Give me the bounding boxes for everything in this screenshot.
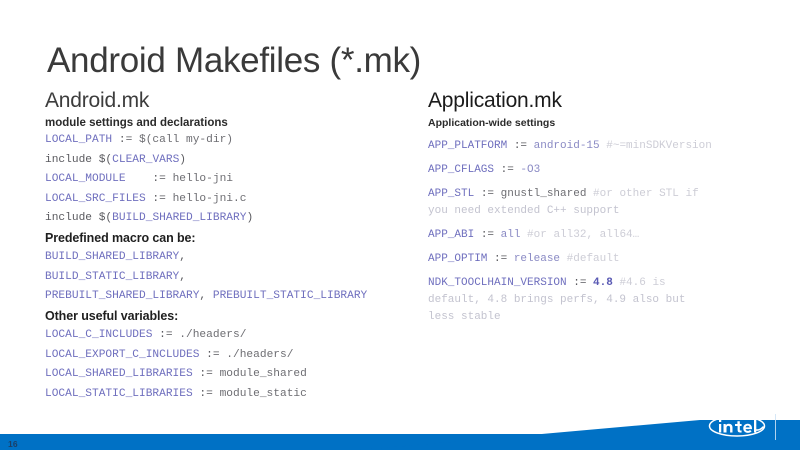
code-token: APP_ABI [428,229,474,241]
code-token: hello-jni.c [173,193,247,205]
code-token: := [152,329,179,341]
application-mk-subheading: Application-wide settings [428,116,800,131]
application-mk-heading: Application.mk [428,88,800,114]
code-line: PREBUILT_SHARED_LIBRARY, PREBUILT_STATIC… [45,287,430,307]
code-token: PREBUILT_SHARED_LIBRARY [45,290,199,302]
code-token: you need extended C++ support [428,205,619,217]
code-token: $( [99,212,112,224]
code-token: LOCAL_PATH [45,134,112,146]
code-token: := [567,277,593,289]
code-spacer [428,131,800,138]
code-token: gnustl_shared [501,188,587,200]
code-line: LOCAL_SRC_FILES := hello-jni.c [45,190,430,210]
code-spacer [428,179,800,186]
code-token: := [146,193,173,205]
code-token: #or other STL if [586,188,698,200]
code-token: := [112,134,139,146]
code-token: include [45,154,99,166]
code-token: LOCAL_C_INCLUDES [45,329,152,341]
page-number: 16 [8,439,18,449]
code-line: LOCAL_STATIC_LIBRARIES := module_static [45,385,430,405]
code-token: APP_OPTIM [428,253,487,265]
code-prose-line: Predefined macro can be: [45,229,430,249]
code-token: $( [99,154,112,166]
code-token: module_static [220,388,307,400]
code-line: default, 4.8 brings perfs, 4.9 also but [428,292,800,309]
slide-footer: 16 [0,408,800,450]
code-token: #~=minSDKVersion [600,140,712,152]
code-token: , [179,251,186,263]
code-token: ./headers/ [226,349,293,361]
code-line: less stable [428,309,800,326]
code-token: less stable [428,311,501,323]
code-token: := [474,229,500,241]
code-token: ./headers/ [179,329,246,341]
code-token: #or all32, all64… [520,229,639,241]
footer-wedge-shape [0,408,800,450]
code-line: APP_CFLAGS := -O3 [428,162,800,179]
code-token: := [126,173,173,185]
code-token: -O3 [520,164,540,176]
android-mk-code-block: LOCAL_PATH := $(call my-dir)include $(CL… [45,131,430,404]
code-token: := [193,368,220,380]
intel-logo [708,414,766,438]
code-line: include $(CLEAR_VARS) [45,151,430,171]
code-spacer [428,220,800,227]
code-token: #4.6 is [613,277,666,289]
code-line: APP_PLATFORM := android-15 #~=minSDKVers… [428,138,800,155]
code-token: include [45,212,99,224]
code-token: module_shared [220,368,307,380]
code-token: APP_STL [428,188,474,200]
code-spacer [428,244,800,251]
code-token: BUILD_SHARED_LIBRARY [45,251,179,263]
code-token: CLEAR_VARS [112,154,179,166]
code-token: LOCAL_SRC_FILES [45,193,146,205]
code-spacer [428,155,800,162]
page-title: Android Makefiles (*.mk) [47,41,421,81]
slide-root: Android Makefiles (*.mk) Android.mk modu… [0,0,800,450]
code-token: APP_PLATFORM [428,140,507,152]
footer-divider [775,414,776,440]
code-line: LOCAL_MODULE := hello-jni [45,170,430,190]
android-mk-column: Android.mk module settings and declarati… [45,88,430,404]
code-token: := [494,164,520,176]
code-token: LOCAL_MODULE [45,173,126,185]
code-token: LOCAL_EXPORT_C_INCLUDES [45,349,199,361]
application-mk-code-block: APP_PLATFORM := android-15 #~=minSDKVers… [428,131,800,326]
code-line: include $(BUILD_SHARED_LIBRARY) [45,209,430,229]
code-token: 4.8 [593,277,613,289]
code-token: , [179,271,186,283]
code-token: ) [179,154,186,166]
code-token: hello-jni [173,173,233,185]
code-line: LOCAL_PATH := $(call my-dir) [45,131,430,151]
code-line: you need extended C++ support [428,203,800,220]
application-mk-column: Application.mk Application-wide settings… [428,88,800,326]
code-token: PREBUILT_STATIC_LIBRARY [213,290,367,302]
code-line: LOCAL_C_INCLUDES := ./headers/ [45,326,430,346]
code-token: := [193,388,220,400]
code-line: NDK_TOOCLHAIN_VERSION := 4.8 #4.6 is [428,275,800,292]
code-token: APP_CFLAGS [428,164,494,176]
code-line: LOCAL_EXPORT_C_INCLUDES := ./headers/ [45,346,430,366]
code-token: LOCAL_STATIC_LIBRARIES [45,388,193,400]
code-token: BUILD_SHARED_LIBRARY [112,212,246,224]
code-token: := [474,188,500,200]
code-token: BUILD_STATIC_LIBRARY [45,271,179,283]
code-token: default, 4.8 brings perfs, 4.9 also but [428,294,685,306]
code-line: BUILD_SHARED_LIBRARY, [45,248,430,268]
code-token: := [199,349,226,361]
code-line: LOCAL_SHARED_LIBRARIES := module_shared [45,365,430,385]
code-token: , [199,290,212,302]
code-token: $(call my-dir) [139,134,233,146]
code-spacer [428,268,800,275]
code-prose-line: Other useful variables: [45,307,430,327]
code-token: NDK_TOOCLHAIN_VERSION [428,277,567,289]
code-token: android-15 [534,140,600,152]
android-mk-heading: Android.mk [45,88,430,114]
code-token: LOCAL_SHARED_LIBRARIES [45,368,193,380]
code-line: BUILD_STATIC_LIBRARY, [45,268,430,288]
code-token: ) [246,212,253,224]
code-line: APP_OPTIM := release #default [428,251,800,268]
code-token: := [507,140,533,152]
code-token: := [487,253,513,265]
code-token: #default [560,253,619,265]
code-token: release [514,253,560,265]
code-line: APP_ABI := all #or all32, all64… [428,227,800,244]
code-line: APP_STL := gnustl_shared #or other STL i… [428,186,800,203]
android-mk-subheading: module settings and declarations [45,116,430,131]
code-token: all [501,229,521,241]
